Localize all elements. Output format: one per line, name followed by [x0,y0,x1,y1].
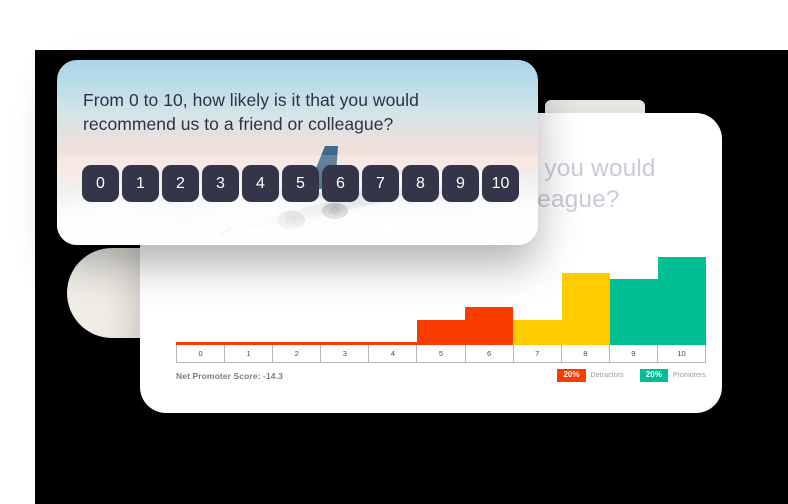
card-stack-sliver [545,100,645,114]
legend-detractors-label: Detractors [591,372,624,379]
chart-axis-label-0: 0 [177,345,225,362]
nps-rating-scale[interactable]: 012345678910 [82,165,519,202]
chart-bar-7 [513,320,561,345]
chart-bar-6 [465,307,513,345]
chart-axis-label-4: 4 [369,345,417,362]
chart-bar-column-3 [321,233,369,345]
chart-axis-label-6: 6 [466,345,514,362]
chart-footer: Net Promoter Score: -14.3 20% Detractors… [176,369,706,382]
chart-axis-label-8: 8 [562,345,610,362]
chart-axis-label-10: 10 [658,345,705,362]
rating-button-2[interactable]: 2 [162,165,199,202]
legend-promoters-label: Promoters [673,372,706,379]
chart-bar-9 [610,279,658,345]
rating-button-7[interactable]: 7 [362,165,399,202]
screenshot-stage: From 0 to 10, how likely is it that you … [0,0,788,504]
rating-button-3[interactable]: 3 [202,165,239,202]
chart-bar-3 [321,342,369,345]
chart-bar-column-7 [513,233,561,345]
net-promoter-score-label: Net Promoter Score: -14.3 [176,371,283,381]
chart-axis-label-9: 9 [610,345,658,362]
chart-x-axis: 012345678910 [176,345,706,363]
chart-bar-8 [562,273,610,345]
rating-button-0[interactable]: 0 [82,165,119,202]
chart-axis-label-1: 1 [225,345,273,362]
rating-button-10[interactable]: 10 [482,165,519,202]
chart-bar-column-1 [224,233,272,345]
chart-bar-column-0 [176,233,224,345]
legend-promoters-percent: 20% [640,369,668,382]
rating-button-5[interactable]: 5 [282,165,319,202]
chart-legend: 20% Detractors 20% Promoters [557,369,706,382]
chart-bar-column-5 [417,233,465,345]
rating-button-1[interactable]: 1 [122,165,159,202]
chart-bar-column-6 [465,233,513,345]
chart-bar-column-8 [562,233,610,345]
chart-axis-label-2: 2 [273,345,321,362]
nps-bar-chart: 012345678910 Net Promoter Score: -14.3 2… [176,233,706,388]
chart-axis-label-3: 3 [321,345,369,362]
chart-bar-4 [369,342,417,345]
rating-button-6[interactable]: 6 [322,165,359,202]
legend-detractors-percent: 20% [557,369,585,382]
chart-bar-2 [272,342,320,345]
chart-bar-0 [176,342,224,345]
rating-button-8[interactable]: 8 [402,165,439,202]
legend-item-detractors[interactable]: 20% Detractors [557,369,623,382]
chart-bar-10 [658,257,706,345]
chart-axis-label-5: 5 [417,345,465,362]
rating-button-9[interactable]: 9 [442,165,479,202]
chart-plot-area [176,233,706,345]
chart-bar-1 [224,342,272,345]
chart-bar-column-4 [369,233,417,345]
survey-question-text: From 0 to 10, how likely is it that you … [83,88,513,136]
rating-button-4[interactable]: 4 [242,165,279,202]
survey-card: From 0 to 10, how likely is it that you … [57,60,538,245]
chart-axis-label-7: 7 [514,345,562,362]
chart-bar-column-9 [610,233,658,345]
chart-bar-column-2 [272,233,320,345]
chart-bar-column-10 [658,233,706,345]
legend-item-promoters[interactable]: 20% Promoters [640,369,706,382]
chart-bar-5 [417,320,465,345]
